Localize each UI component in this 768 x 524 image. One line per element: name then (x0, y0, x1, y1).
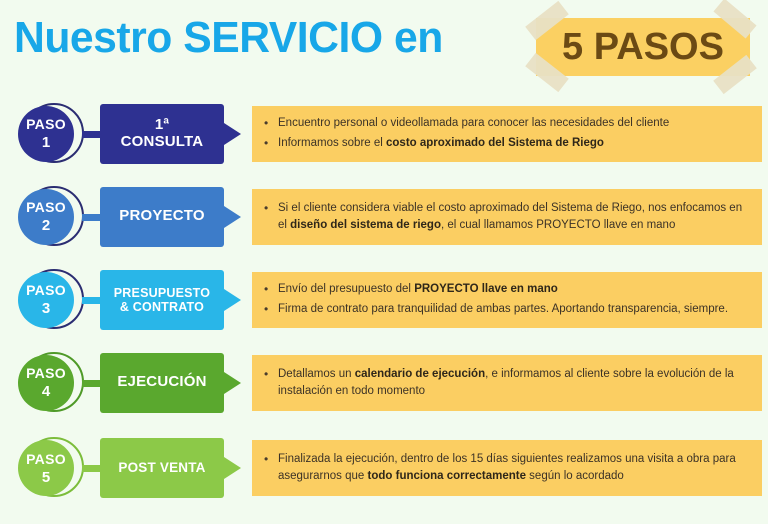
step-word: PASO (26, 283, 66, 297)
bullet-item: •Envío del presupuesto del PROYECTO llav… (264, 281, 748, 298)
step-row: PASO3PRESUPUESTO& CONTRATO•Envío del pre… (0, 258, 768, 341)
title-main: SERVICIO (183, 13, 382, 62)
step-word: PASO (26, 117, 66, 131)
bullet-item: •Firma de contrato para tranquilidad de … (264, 301, 748, 318)
step-word: PASO (26, 452, 66, 466)
step-word: PASO (26, 200, 66, 214)
arrow-right-icon (224, 457, 241, 479)
step-row: PASO5POST VENTA•Finalizada la ejecución,… (0, 424, 768, 512)
step-circle-fill: PASO2 (18, 189, 74, 245)
bullet-text: Si el cliente considera viable el costo … (278, 200, 748, 233)
step-content-box: •Finalizada la ejecución, dentro de los … (252, 440, 762, 496)
title-prefix: Nuestro (14, 13, 183, 62)
step-number: 5 (42, 470, 50, 485)
step-circle-3[interactable]: PASO3 (16, 267, 90, 333)
step-circle-4[interactable]: PASO4 (16, 350, 90, 416)
bullet-item: •Si el cliente considera viable el costo… (264, 200, 748, 233)
bullet-dot-icon: • (264, 115, 278, 132)
badge-box: 5 PASOS (536, 18, 750, 76)
step-number: 3 (42, 301, 50, 316)
arrow-right-icon (224, 289, 241, 311)
step-row: PASO2PROYECTO•Si el cliente considera vi… (0, 175, 768, 258)
title-suffix: en (383, 13, 443, 62)
step-label-text: PRESUPUESTO& CONTRATO (110, 286, 214, 314)
bullet-emphasis: costo aproximado del Sistema de Riego (386, 137, 604, 149)
bullet-dot-icon: • (264, 366, 278, 383)
bullet-text: Firma de contrato para tranquilidad de a… (278, 301, 748, 318)
bullet-dot-icon: • (264, 281, 278, 298)
step-label-box[interactable]: 1ªCONSULTA (100, 104, 224, 164)
step-circle-1[interactable]: PASO1 (16, 101, 90, 167)
step-label-line2: & CONTRATO (114, 300, 210, 314)
step-circle-2[interactable]: PASO2 (16, 184, 90, 250)
bullet-emphasis: todo funciona correctamente (368, 470, 526, 482)
bullet-dot-icon: • (264, 301, 278, 318)
step-label-line1: POST VENTA (118, 460, 205, 475)
step-circle-5[interactable]: PASO5 (16, 435, 90, 501)
bullet-dot-icon: • (264, 135, 278, 152)
bullet-item: •Detallamos un calendario de ejecución, … (264, 366, 748, 399)
bullet-text: Informamos sobre el costo aproximado del… (278, 135, 748, 152)
step-label-text: EJECUCIÓN (113, 374, 210, 391)
step-row: PASO4EJECUCIÓN•Detallamos un calendario … (0, 341, 768, 424)
page-title: Nuestro SERVICIO en (14, 16, 443, 60)
bullet-dot-icon: • (264, 200, 278, 217)
step-circle-fill: PASO4 (18, 355, 74, 411)
step-word: PASO (26, 366, 66, 380)
step-label-line2: CONSULTA (121, 134, 204, 151)
header: Nuestro SERVICIO en 5 PASOS (0, 0, 768, 92)
bullet-text: Finalizada la ejecución, dentro de los 1… (278, 451, 748, 484)
step-label-box[interactable]: POST VENTA (100, 438, 224, 498)
step-number: 1 (42, 135, 50, 150)
bullet-text: Envío del presupuesto del PROYECTO llave… (278, 281, 748, 298)
bullet-item: •Finalizada la ejecución, dentro de los … (264, 451, 748, 484)
step-label-line1: PRESUPUESTO (114, 286, 210, 300)
step-row: PASO11ªCONSULTA•Encuentro personal o vid… (0, 92, 768, 175)
arrow-right-icon (224, 123, 241, 145)
step-label-text: PROYECTO (115, 208, 209, 225)
bullet-emphasis: diseño del sistema de riego (290, 219, 441, 231)
step-label-text: 1ªCONSULTA (117, 117, 208, 151)
bullet-text: Detallamos un calendario de ejecución, e… (278, 366, 748, 399)
step-content-box: •Encuentro personal o videollamada para … (252, 106, 762, 162)
step-content-box: •Si el cliente considera viable el costo… (252, 189, 762, 245)
bullet-emphasis: PROYECTO llave en mano (414, 283, 558, 295)
step-label-box[interactable]: PRESUPUESTO& CONTRATO (100, 270, 224, 330)
step-circle-fill: PASO1 (18, 106, 74, 162)
step-label-line1: EJECUCIÓN (117, 374, 206, 391)
step-label-text: POST VENTA (114, 460, 209, 475)
bullet-emphasis: calendario de ejecución (355, 368, 485, 380)
step-content-box: •Detallamos un calendario de ejecución, … (252, 355, 762, 411)
step-circle-fill: PASO3 (18, 272, 74, 328)
arrow-right-icon (224, 372, 241, 394)
step-number: 2 (42, 218, 50, 233)
bullet-item: •Encuentro personal o videollamada para … (264, 115, 748, 132)
badge-label: 5 PASOS (562, 28, 724, 66)
step-circle-fill: PASO5 (18, 440, 74, 496)
arrow-right-icon (224, 206, 241, 228)
bullet-dot-icon: • (264, 451, 278, 468)
bullet-item: •Informamos sobre el costo aproximado de… (264, 135, 748, 152)
step-number: 4 (42, 384, 50, 399)
bullet-text: Encuentro personal o videollamada para c… (278, 115, 748, 132)
step-label-line1: PROYECTO (119, 208, 205, 225)
pasos-badge: 5 PASOS (522, 8, 760, 86)
step-content-box: •Envío del presupuesto del PROYECTO llav… (252, 272, 762, 328)
steps-list: PASO11ªCONSULTA•Encuentro personal o vid… (0, 92, 768, 512)
step-label-box[interactable]: EJECUCIÓN (100, 353, 224, 413)
step-label-box[interactable]: PROYECTO (100, 187, 224, 247)
step-label-line1: 1ª (121, 117, 204, 134)
